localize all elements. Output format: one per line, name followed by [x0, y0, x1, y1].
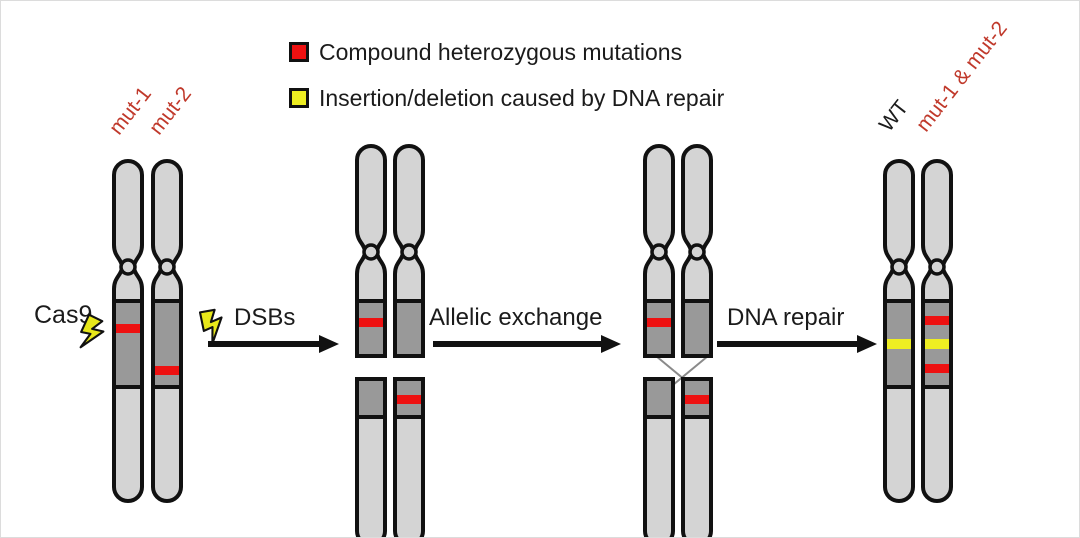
fragment-upper-mut-1 [353, 142, 389, 362]
red-square-swatch [292, 45, 306, 59]
fragment-upper-mut-2 [391, 142, 427, 362]
exchange-fragment-lower-left [641, 375, 677, 538]
arrow-head [857, 335, 877, 353]
fragment-lower-mut-2 [391, 375, 427, 538]
exchange-fragment-upper-left [641, 142, 677, 362]
centromere-icon [402, 245, 416, 259]
step-label-dsbs: DSBs [234, 304, 295, 331]
panel-double-strand-breaks [353, 142, 427, 538]
centromere-icon [121, 260, 135, 274]
fragment-lower-mut-1 [353, 375, 389, 538]
legend-item-mutations: Compound heterozygous mutations [289, 39, 682, 65]
panel-allelic-exchange [641, 142, 715, 538]
panel-parental-chromosomes: mut-1 mut-2 [34, 83, 228, 505]
chromosome-label-mut-1-and-mut-2: mut-1 & mut-2 [912, 17, 1012, 136]
centromere-icon [930, 260, 944, 274]
chromosome-double-mutant [919, 157, 955, 505]
cas9-lightning-bolt-right-icon [198, 307, 228, 345]
step-arrow-allelic-exchange: Allelic exchange [429, 304, 621, 353]
legend: Compound heterozygous mutations Insertio… [289, 39, 725, 111]
chromosome-label-mut-2: mut-2 [145, 83, 196, 139]
step-arrow-dna-repair: DNA repair [717, 304, 877, 353]
centromere-icon [892, 260, 906, 274]
figure-canvas: Compound heterozygous mutations Insertio… [0, 0, 1080, 538]
chromosome-mut-2 [149, 157, 185, 505]
legend-label-mutations: Compound heterozygous mutations [319, 39, 682, 65]
chromosome-wt [881, 157, 917, 505]
legend-item-indel: Insertion/deletion caused by DNA repair [289, 85, 725, 111]
arrow-head [319, 335, 339, 353]
centromere-icon [690, 245, 704, 259]
arrow-head [601, 335, 621, 353]
chromosome-mut-1 [110, 157, 146, 505]
centromere-icon [652, 245, 666, 259]
yellow-square-swatch [292, 91, 306, 105]
centromere-icon [160, 260, 174, 274]
panel-repaired-chromosomes: WT mut-1 & mut-2 [875, 17, 1012, 505]
chromosome-label-mut-1: mut-1 [105, 83, 156, 139]
step-label-allelic-exchange: Allelic exchange [429, 304, 602, 331]
step-label-dna-repair: DNA repair [727, 304, 844, 331]
legend-label-indel: Insertion/deletion caused by DNA repair [319, 85, 725, 111]
exchange-fragment-lower-right [679, 375, 715, 538]
step-arrow-dsbs: DSBs [208, 304, 339, 353]
exchange-fragment-upper-right [679, 142, 715, 362]
centromere-icon [364, 245, 378, 259]
chromosome-label-wt: WT [875, 96, 913, 136]
